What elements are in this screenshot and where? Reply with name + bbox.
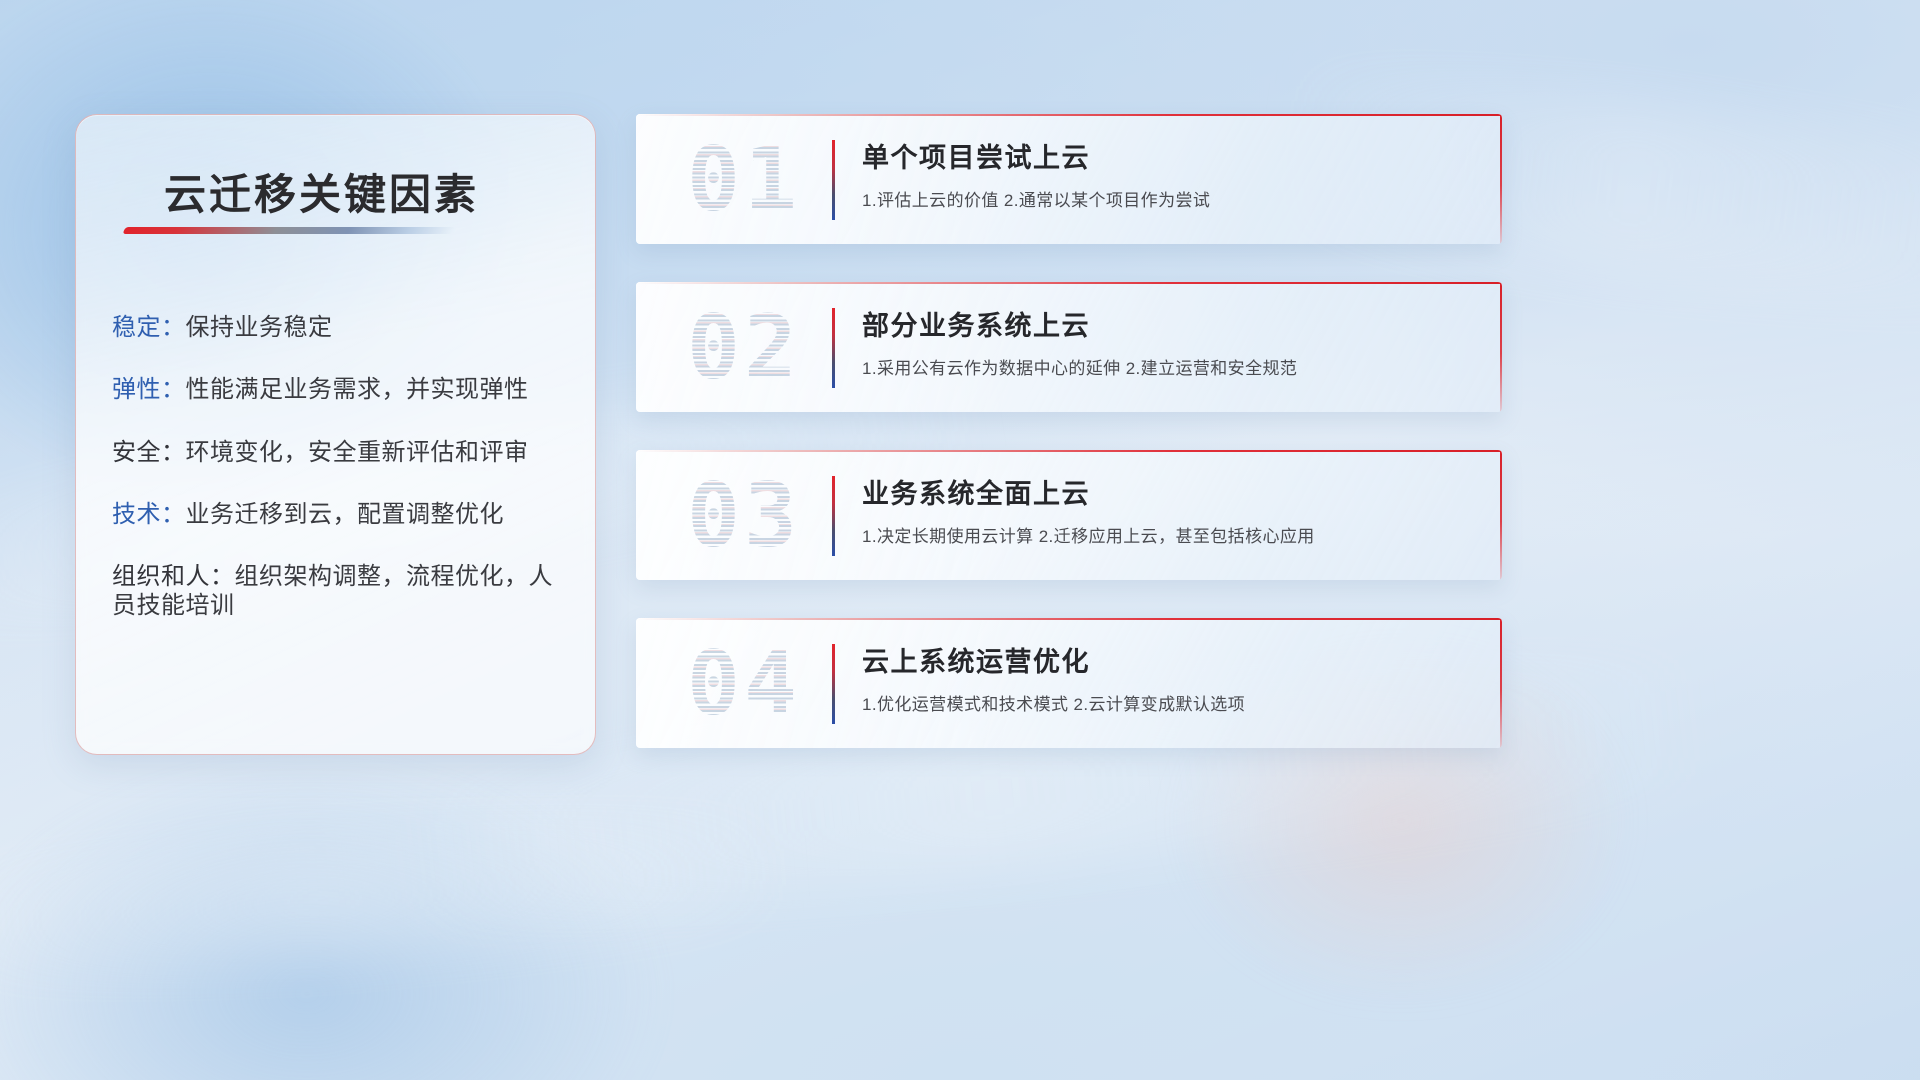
card-top-edge [636,618,1502,620]
stage-card-04[interactable]: 04 04 云上系统运营优化 1.优化运营模式和技术模式 2.云计算变成默认选项 [636,618,1502,748]
factor-label: 稳定： [112,314,186,341]
factor-text: 保持业务稳定 [186,314,333,341]
card-top-edge [636,450,1502,452]
stage-number-watermark-tint: 02 [664,290,824,404]
factor-label: 安全： [112,439,186,466]
stage-card-list: 01 01 单个项目尝试上云 1.评估上云的价值 2.通常以某个项目作为尝试 0… [636,114,1502,748]
stage-number-watermark-tint: 01 [664,122,824,236]
list-item: 稳定：保持业务稳定 [112,313,569,342]
card-description: 1.优化运营模式和技术模式 2.云计算变成默认选项 [862,690,1478,715]
card-body: 单个项目尝试上云 1.评估上云的价值 2.通常以某个项目作为尝试 [862,136,1478,211]
factor-label: 技术： [112,501,186,528]
list-item: 技术：业务迁移到云，配置调整优化 [112,500,569,529]
card-top-edge [636,282,1502,284]
stage-number-watermark-tint: 03 [664,458,824,572]
card-description: 1.决定长期使用云计算 2.迁移应用上云，甚至包括核心应用 [862,522,1478,547]
card-title: 云上系统运营优化 [862,640,1478,679]
title-underline-rule [122,227,455,234]
card-description: 1.采用公有云作为数据中心的延伸 2.建立运营和安全规范 [862,354,1478,379]
accent-bar [832,140,835,220]
page-title: 云迁移关键因素 [164,161,479,222]
stage-card-02[interactable]: 02 02 部分业务系统上云 1.采用公有云作为数据中心的延伸 2.建立运营和安… [636,282,1502,412]
card-title: 单个项目尝试上云 [862,136,1478,175]
accent-bar [832,644,835,724]
card-right-edge [1500,618,1502,748]
factor-text: 性能满足业务需求，并实现弹性 [186,376,529,403]
slide-stage: 云迁移关键因素 稳定：保持业务稳定 弹性：性能满足业务需求，并实现弹性 安全：环… [0,0,1920,1080]
factor-list: 稳定：保持业务稳定 弹性：性能满足业务需求，并实现弹性 安全：环境变化，安全重新… [112,313,569,621]
accent-bar [832,308,835,388]
stage-card-01[interactable]: 01 01 单个项目尝试上云 1.评估上云的价值 2.通常以某个项目作为尝试 [636,114,1502,244]
list-item: 安全：环境变化，安全重新评估和评审 [112,438,569,467]
list-item: 组织和人：组织架构调整，流程优化，人员技能培训 [112,562,569,621]
card-body: 云上系统运营优化 1.优化运营模式和技术模式 2.云计算变成默认选项 [862,640,1478,715]
card-body: 部分业务系统上云 1.采用公有云作为数据中心的延伸 2.建立运营和安全规范 [862,304,1478,379]
factor-text: 业务迁移到云，配置调整优化 [186,501,505,528]
factor-text: 环境变化，安全重新评估和评审 [186,439,529,466]
card-title: 部分业务系统上云 [862,304,1478,343]
factor-label: 弹性： [112,376,186,403]
list-item: 弹性：性能满足业务需求，并实现弹性 [112,375,569,404]
card-right-edge [1500,282,1502,412]
accent-bar [832,476,835,556]
card-body: 业务系统全面上云 1.决定长期使用云计算 2.迁移应用上云，甚至包括核心应用 [862,472,1478,547]
key-factors-panel: 云迁移关键因素 稳定：保持业务稳定 弹性：性能满足业务需求，并实现弹性 安全：环… [75,114,596,755]
card-title: 业务系统全面上云 [862,472,1478,511]
card-top-edge [636,114,1502,116]
card-right-edge [1500,114,1502,244]
card-description: 1.评估上云的价值 2.通常以某个项目作为尝试 [862,186,1478,211]
stage-card-03[interactable]: 03 03 业务系统全面上云 1.决定长期使用云计算 2.迁移应用上云，甚至包括… [636,450,1502,580]
stage-number-watermark-tint: 04 [664,626,824,740]
card-right-edge [1500,450,1502,580]
factor-label: 组织和人： [112,563,235,590]
